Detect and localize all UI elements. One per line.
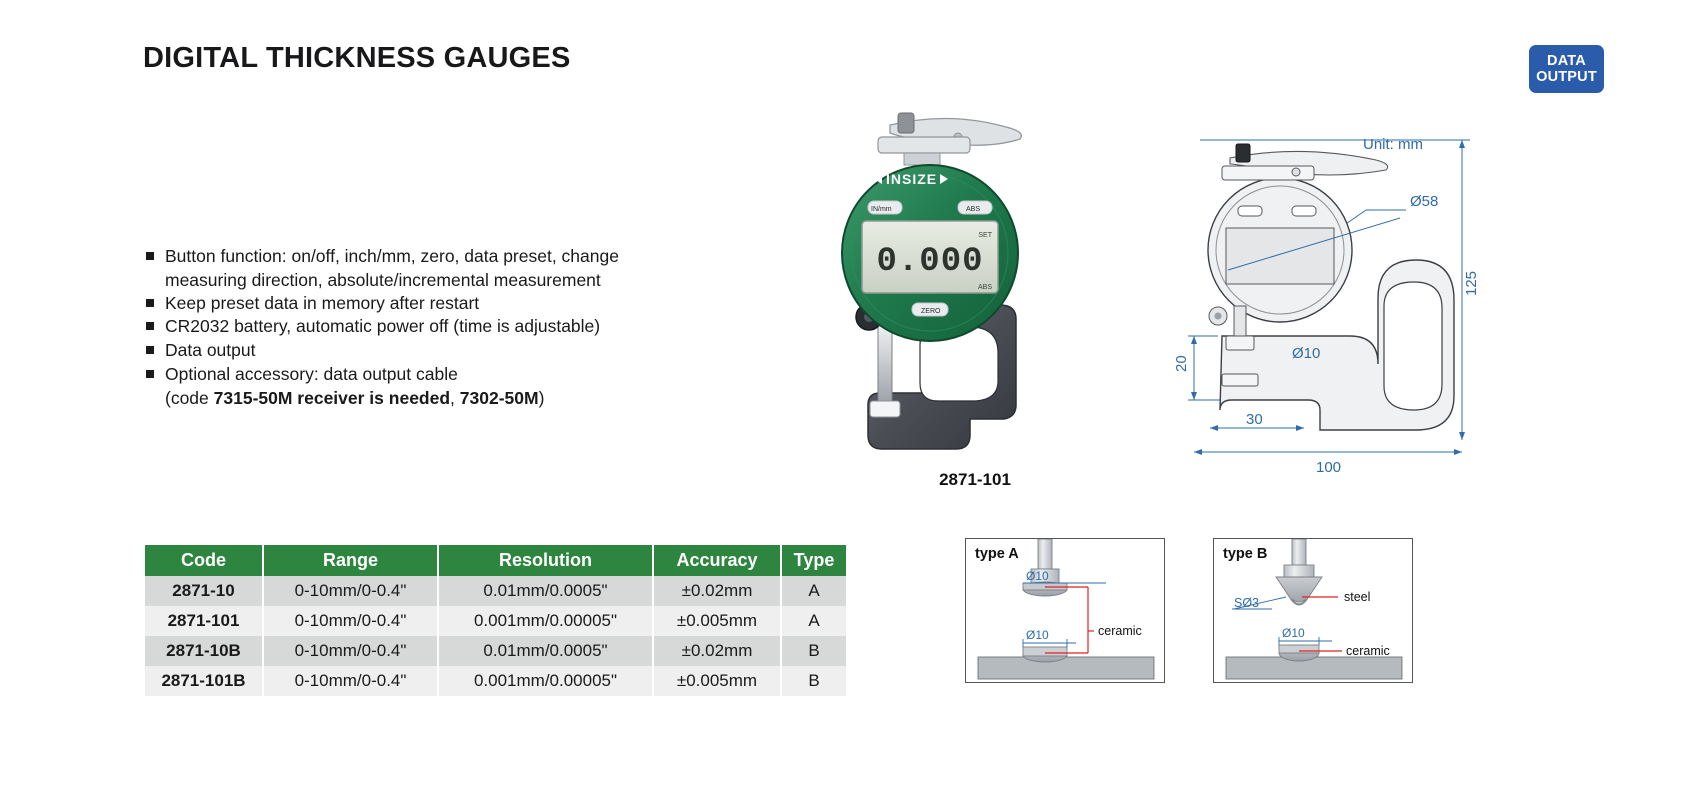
feature-text: Keep preset data in memory after restart <box>165 293 479 313</box>
lever-post <box>898 113 914 133</box>
type-a-dim-top: Ø10 <box>1026 569 1049 583</box>
lcd-indicator-set: SET <box>978 232 992 239</box>
dimension-drawing: Ø58 125 20 Ø10 30 100 <box>1170 110 1640 480</box>
code-separator: , <box>450 388 460 408</box>
bullet-square-icon <box>146 370 154 378</box>
bullet-square-icon <box>146 252 154 260</box>
workpiece-base <box>1226 657 1402 679</box>
code-suffix: ) <box>539 388 545 408</box>
column-header-type: Type <box>781 545 846 576</box>
lcd-value: 0.000 <box>876 243 983 281</box>
bullet-square-icon <box>146 322 154 330</box>
spindle-outline <box>1234 306 1246 340</box>
measuring-spindle <box>878 323 892 405</box>
upper-holder <box>1284 565 1314 577</box>
cell-accuracy: ±0.02mm <box>653 576 781 606</box>
bullet-square-icon <box>146 299 154 307</box>
brand-logo: INSIZE <box>874 171 948 187</box>
badge-line-1: DATA <box>1547 53 1586 69</box>
product-photo: INSIZE IN/mm ABS 0.000 SET ABS ZERO <box>820 105 1130 460</box>
dim-label-30: 30 <box>1246 411 1263 428</box>
cell-range: 0-10mm/0-0.4" <box>263 606 438 636</box>
svg-text:IN/mm: IN/mm <box>871 206 892 213</box>
cell-accuracy: ±0.005mm <box>653 606 781 636</box>
lever-bracket <box>878 137 970 153</box>
dim-label-d10: Ø10 <box>1292 345 1320 362</box>
cell-code: 2871-101B <box>145 666 263 696</box>
c-frame-cutout-outline <box>1384 282 1442 410</box>
upper-spindle <box>1038 539 1052 569</box>
badge-line-2: OUTPUT <box>1536 69 1597 85</box>
product-code-caption: 2871-101 <box>820 470 1130 490</box>
cell-type: B <box>781 636 846 666</box>
cell-code: 2871-101 <box>145 606 263 636</box>
type-a-dim-bottom: Ø10 <box>1026 628 1049 642</box>
code-receiver: 7315-50M receiver is needed <box>214 388 450 408</box>
type-a-material: ceramic <box>1098 624 1142 638</box>
feature-item-battery: CR2032 battery, automatic power off (tim… <box>143 315 753 338</box>
cell-accuracy: ±0.02mm <box>653 636 781 666</box>
data-output-badge: DATA OUTPUT <box>1529 45 1604 93</box>
svg-text:ZERO: ZERO <box>921 308 941 315</box>
feature-text: Data output <box>165 340 255 360</box>
contact-point-outline <box>1226 336 1254 350</box>
feature-item-data-output: Data output <box>143 339 753 362</box>
cell-resolution: 0.001mm/0.00005" <box>438 666 653 696</box>
feature-item-keep-preset: Keep preset data in memory after restart <box>143 292 753 315</box>
feature-list: Button function: on/off, inch/mm, zero, … <box>143 245 753 409</box>
page-title: DIGITAL THICKNESS GAUGES <box>143 42 570 75</box>
column-header-resolution: Resolution <box>438 545 653 576</box>
table-header-row: Code Range Resolution Accuracy Type <box>145 545 846 576</box>
dim-label-125: 125 <box>1463 271 1480 296</box>
table-row: 2871-10B 0-10mm/0-0.4" 0.01mm/0.0005" ±0… <box>145 636 846 666</box>
feature-item-button-function: Button function: on/off, inch/mm, zero, … <box>143 245 753 268</box>
measuring-contact-point <box>870 401 900 417</box>
table-row: 2871-101 0-10mm/0-0.4" 0.001mm/0.00005" … <box>145 606 846 636</box>
cell-range: 0-10mm/0-0.4" <box>263 666 438 696</box>
feature-item-button-function-cont: measuring direction, absolute/incrementa… <box>143 269 753 292</box>
cell-code: 2871-10B <box>145 636 263 666</box>
gauge-stem <box>904 153 940 165</box>
conical-steel-tip <box>1276 577 1322 605</box>
feature-text-line1: Button function: on/off, inch/mm, zero, … <box>165 246 619 266</box>
cell-range: 0-10mm/0-0.4" <box>263 636 438 666</box>
cell-code: 2871-10 <box>145 576 263 606</box>
column-header-range: Range <box>263 545 438 576</box>
dim-label-d58: Ø58 <box>1410 193 1438 210</box>
cell-resolution: 0.01mm/0.0005" <box>438 636 653 666</box>
column-header-accuracy: Accuracy <box>653 545 781 576</box>
feature-item-optional-accessory-codes: (code 7315-50M receiver is needed, 7302-… <box>143 387 753 410</box>
cell-range: 0-10mm/0-0.4" <box>263 576 438 606</box>
type-b-material-bottom: ceramic <box>1346 644 1390 658</box>
code-prefix: (code <box>165 388 214 408</box>
lcd-indicator-abs: ABS <box>978 284 992 291</box>
svg-text:ABS: ABS <box>966 206 980 213</box>
upper-spindle <box>1292 539 1306 565</box>
feature-text-line2: measuring direction, absolute/incrementa… <box>165 270 601 290</box>
spec-table: Code Range Resolution Accuracy Type 2871… <box>145 545 846 696</box>
cell-type: A <box>781 606 846 636</box>
feature-item-optional-accessory: Optional accessory: data output cable <box>143 363 753 386</box>
type-a-detail-box: type A <box>965 538 1165 683</box>
table-row: 2871-101B 0-10mm/0-0.4" 0.001mm/0.00005"… <box>145 666 846 696</box>
table-row: 2871-10 0-10mm/0-0.4" 0.01mm/0.0005" ±0.… <box>145 576 846 606</box>
dim-label-100: 100 <box>1316 459 1341 476</box>
svg-text:INSIZE: INSIZE <box>886 171 937 187</box>
type-b-dim-tip: SØ3 <box>1234 596 1259 610</box>
dim-label-20: 20 <box>1173 355 1190 372</box>
cell-type: B <box>781 666 846 696</box>
cell-accuracy: ±0.005mm <box>653 666 781 696</box>
feature-text: Optional accessory: data output cable <box>165 364 458 384</box>
cell-resolution: 0.01mm/0.0005" <box>438 576 653 606</box>
type-b-dim-bottom: Ø10 <box>1282 626 1305 640</box>
workpiece-base <box>978 657 1154 679</box>
type-b-material-top: steel <box>1344 590 1370 604</box>
bullet-square-icon <box>146 346 154 354</box>
cell-resolution: 0.001mm/0.00005" <box>438 606 653 636</box>
feature-text: CR2032 battery, automatic power off (tim… <box>165 316 600 336</box>
type-b-detail-box: type B <box>1213 538 1413 683</box>
dial-face-outline <box>1226 228 1334 284</box>
cell-type: A <box>781 576 846 606</box>
column-header-code: Code <box>145 545 263 576</box>
code-cable: 7302-50M <box>460 388 539 408</box>
